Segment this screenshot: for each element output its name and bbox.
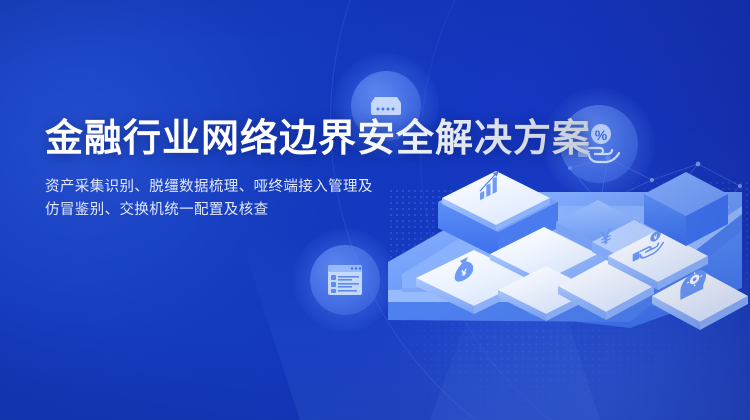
document-list-icon [326, 263, 364, 297]
banner-root: % [0, 0, 750, 420]
subtitle-line-1: 资产采集识别、脱缰数据梳理、哑终端接入管理及 [45, 176, 385, 199]
page-subtitle: 资产采集识别、脱缰数据梳理、哑终端接入管理及 仿冒鉴别、交换机统一配置及核查 [45, 176, 385, 223]
svg-text:%: % [595, 127, 608, 143]
subtitle-line-2: 仿冒鉴别、交换机统一配置及核查 [45, 199, 385, 222]
page-title: 金融行业网络边界安全解决方案 [45, 118, 591, 162]
server-rack-icon [367, 93, 405, 119]
badge-inner [310, 245, 380, 315]
text-block: 金融行业网络边界安全解决方案 资产采集识别、脱缰数据梳理、哑终端接入管理及 仿冒… [45, 118, 591, 223]
